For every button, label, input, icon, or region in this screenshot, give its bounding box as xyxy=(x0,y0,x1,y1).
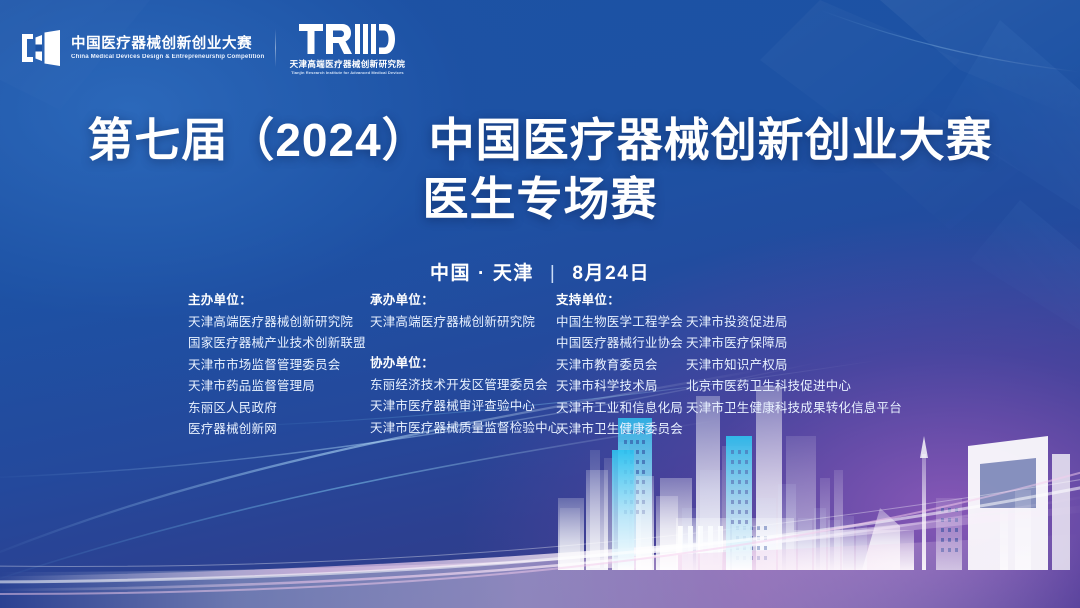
organizer-item: 天津高端医疗器械创新研究院 xyxy=(370,312,556,334)
triid-mark-icon xyxy=(299,22,395,56)
organizers-block: 主办单位： 天津高端医疗器械创新研究院 国家医疗器械产业技术创新联盟 天津市市场… xyxy=(188,290,896,441)
competition-logo: 中国医疗器械创新创业大赛 China Medical Devices Desig… xyxy=(20,28,261,68)
supporter-item: 天津市卫生健康委员会 xyxy=(556,419,686,441)
host-item: 医疗器械创新网 xyxy=(188,419,370,441)
column-spacer xyxy=(370,333,556,353)
open-door-icon xyxy=(20,28,62,68)
institute-logo: 天津高端医疗器械创新研究院 Tianjin Research Institute… xyxy=(290,22,406,75)
logo-bar: 中国医疗器械创新创业大赛 China Medical Devices Desig… xyxy=(20,22,405,75)
logo-divider xyxy=(275,29,276,67)
host-item: 东丽区人民政府 xyxy=(188,398,370,420)
triid-wordmark xyxy=(299,22,395,56)
coorganizer-item: 天津市医疗器械质量监督检验中心 xyxy=(370,418,556,440)
supporter-item: 天津市工业和信息化局 xyxy=(556,398,686,420)
competition-logo-en: China Medical Devices Design & Entrepren… xyxy=(71,54,264,60)
coorganizer-heading: 协办单位： xyxy=(370,353,556,375)
event-location: 中国 · 天津 xyxy=(430,263,534,284)
institute-logo-cn: 天津高端医疗器械创新研究院 xyxy=(290,60,406,69)
host-item: 天津高端医疗器械创新研究院 xyxy=(188,312,370,334)
host-item: 国家医疗器械产业技术创新联盟 xyxy=(188,333,370,355)
supporters-left: 支持单位： 中国生物医学工程学会 中国医疗器械行业协会 天津市教育委员会 天津市… xyxy=(556,290,686,441)
supporters-right-spacer xyxy=(686,290,896,312)
poster-title-block: 第七届（2024）中国医疗器械创新创业大赛 医生专场赛 xyxy=(0,112,1080,228)
institute-logo-en: Tianjin Research Institute for Advanced … xyxy=(291,71,404,75)
supporter-item: 天津市科学技术局 xyxy=(556,376,686,398)
event-meta: 中国 · 天津 | 8月24日 xyxy=(0,258,1080,285)
event-poster: 中国医疗器械创新创业大赛 China Medical Devices Desig… xyxy=(0,0,1080,608)
competition-logo-cn: 中国医疗器械创新创业大赛 xyxy=(71,37,261,52)
supporters-right: 天津市投资促进局 天津市医疗保障局 天津市知识产权局 北京市医药卫生科技促进中心… xyxy=(686,290,896,441)
supporter-item: 天津市医疗保障局 xyxy=(686,333,896,355)
meta-separator: | xyxy=(550,263,557,285)
supporter-heading: 支持单位： xyxy=(556,290,686,312)
organizers-column-host: 主办单位： 天津高端医疗器械创新研究院 国家医疗器械产业技术创新联盟 天津市市场… xyxy=(188,290,370,441)
host-item: 天津市药品监督管理局 xyxy=(188,376,370,398)
poster-title-sub: 医生专场赛 xyxy=(0,171,1080,228)
organizers-column-supporters: 支持单位： 中国生物医学工程学会 中国医疗器械行业协会 天津市教育委员会 天津市… xyxy=(556,290,896,441)
host-heading: 主办单位： xyxy=(188,290,370,312)
supporter-item: 北京市医药卫生科技促进中心 xyxy=(686,376,896,398)
organizers-column-organizer: 承办单位： 天津高端医疗器械创新研究院 协办单位： 东丽经济技术开发区管理委员会… xyxy=(370,290,556,441)
supporter-item: 天津市教育委员会 xyxy=(556,355,686,377)
event-date: 8月24日 xyxy=(572,263,650,284)
organizer-heading: 承办单位： xyxy=(370,290,556,312)
coorganizer-item: 天津市医疗器械审评查验中心 xyxy=(370,396,556,418)
supporter-item: 中国生物医学工程学会 xyxy=(556,312,686,334)
supporter-item: 天津市卫生健康科技成果转化信息平台 xyxy=(686,398,896,420)
coorganizer-item: 东丽经济技术开发区管理委员会 xyxy=(370,375,556,397)
supporter-item: 天津市知识产权局 xyxy=(686,355,896,377)
poster-title-main: 第七届（2024）中国医疗器械创新创业大赛 xyxy=(0,112,1080,169)
host-item: 天津市市场监督管理委员会 xyxy=(188,355,370,377)
supporter-item: 天津市投资促进局 xyxy=(686,312,896,334)
supporter-item: 中国医疗器械行业协会 xyxy=(556,333,686,355)
